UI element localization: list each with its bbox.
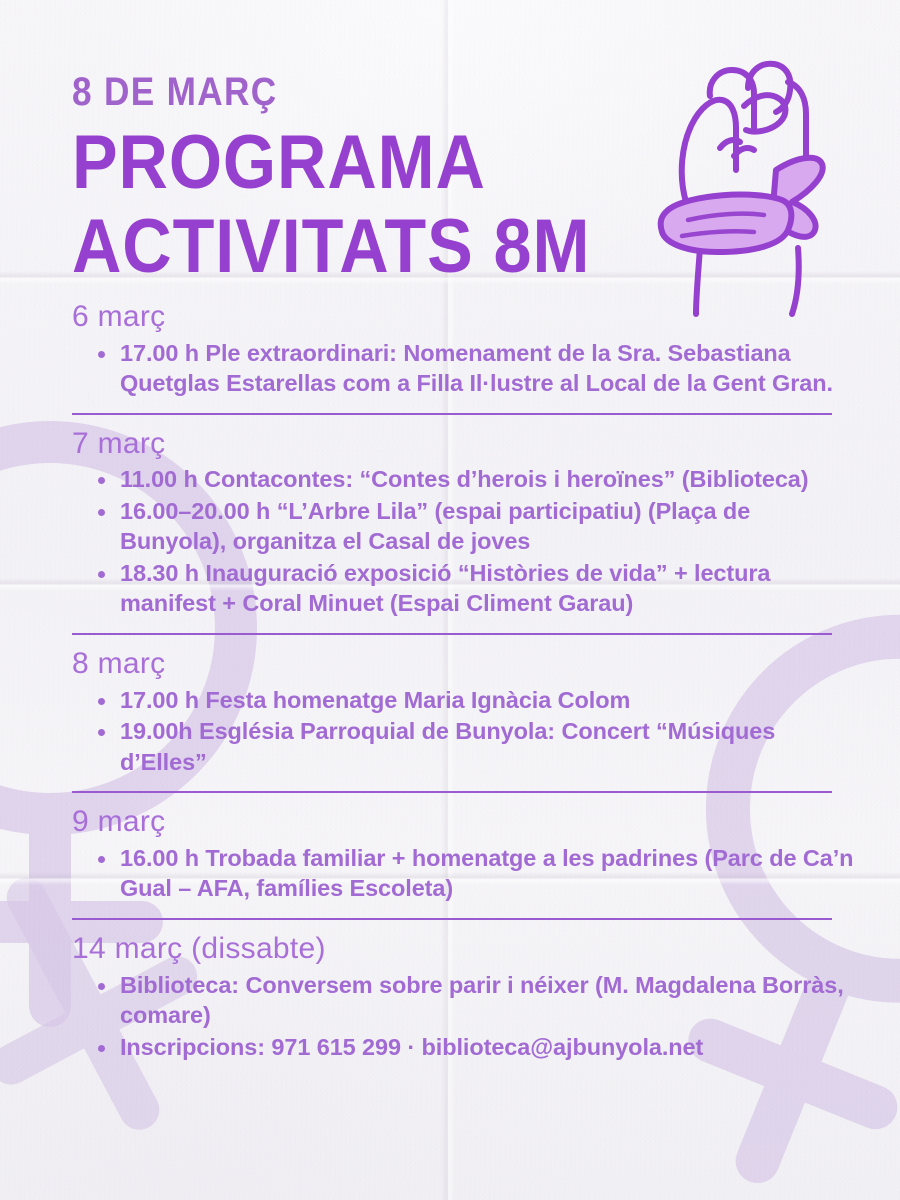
day-block: 8 març17.00 h Festa homenatge Maria Ignà… [0,647,900,777]
section-divider [72,413,832,415]
day-activity-list: 11.00 h Contacontes: “Contes d’herois i … [0,464,900,619]
activity-item: 17.00 h Festa homenatge Maria Ignàcia Co… [98,685,854,716]
activity-item: Inscripcions: 971 615 299 · biblioteca@a… [98,1032,854,1063]
day-date-heading: 7 març [72,427,900,461]
day-date-heading: 9 març [72,805,900,839]
poster-canvas: 8 DE MARÇ PROGRAMA ACTIVITATS 8M [0,0,900,1200]
day-block: 6 març17.00 h Ple extraordinari: Nomenam… [0,300,900,399]
day-activity-list: 16.00 h Trobada familiar + homenatge a l… [0,843,900,904]
activity-item: 18.30 h Inauguració exposició “Històries… [98,558,854,619]
day-date-heading: 14 març (dissabte) [72,932,900,966]
day-date-heading: 6 març [72,300,900,334]
poster-title-line-2: ACTIVITATS 8M [72,212,590,282]
section-divider [72,791,832,793]
day-activity-list: 17.00 h Festa homenatge Maria Ignàcia Co… [0,685,900,778]
activity-item: 19.00h Església Parroquial de Bunyola: C… [98,716,854,777]
day-block: 14 març (dissabte)Biblioteca: Conversem … [0,932,900,1062]
day-date-heading: 8 març [72,647,900,681]
activity-item: 16.00–20.00 h “L’Arbre Lila” (espai part… [98,496,854,557]
section-divider [72,918,832,920]
activity-item: 16.00 h Trobada familiar + homenatge a l… [98,843,854,904]
day-activity-list: Biblioteca: Conversem sobre parir i néix… [0,970,900,1063]
activity-item: 17.00 h Ple extraordinari: Nomenament de… [98,338,854,399]
poster-kicker: 8 DE MARÇ [72,72,278,112]
poster-title-line-1: PROGRAMA [72,128,486,198]
day-block: 7 març11.00 h Contacontes: “Contes d’her… [0,427,900,619]
section-divider [72,633,832,635]
activity-item: Biblioteca: Conversem sobre parir i néix… [98,970,854,1031]
poster-header: 8 DE MARÇ PROGRAMA ACTIVITATS 8M [0,0,900,300]
day-block: 9 març16.00 h Trobada familiar + homenat… [0,805,900,904]
activity-item: 11.00 h Contacontes: “Contes d’herois i … [98,464,854,495]
programme-list: 6 març17.00 h Ple extraordinari: Nomenam… [0,300,900,1063]
raised-fist-with-ribbon-icon [648,52,884,320]
day-activity-list: 17.00 h Ple extraordinari: Nomenament de… [0,338,900,399]
